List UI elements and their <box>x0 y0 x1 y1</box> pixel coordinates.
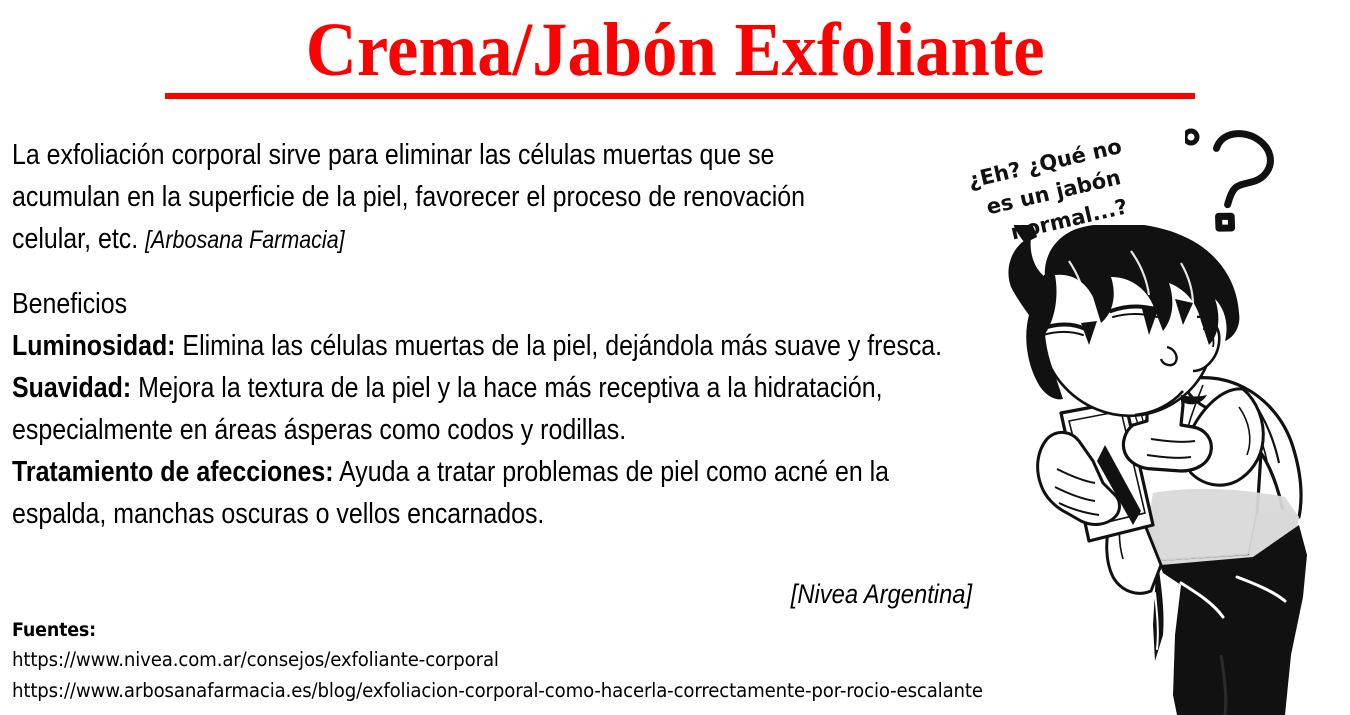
intro-line-3: celular, etc. [Arbosana Farmacia] <box>12 218 972 261</box>
benefit-label-tratamiento: Tratamiento de afecciones: <box>12 456 334 488</box>
benefits-attribution-row: [Nivea Argentina] <box>12 578 972 610</box>
benefit-item-tratamiento: Tratamiento de afecciones: Ayuda a trata… <box>12 451 972 535</box>
intro-line-3-text: celular, etc. <box>12 223 138 255</box>
intro-line-2: acumulan en la superficie de la piel, fa… <box>12 176 972 218</box>
speech-bubble-text: ¿Eh? ¿Qué no es un jabón normal...? <box>960 128 1210 238</box>
benefit-text-suavidad: Mejora la textura de la piel y la hace m… <box>12 372 883 446</box>
intro-attribution: [Arbosana Farmacia] <box>145 226 345 254</box>
benefit-label-suavidad: Suavidad: <box>12 372 131 404</box>
intro-line-1: La exfoliación corporal sirve para elimi… <box>12 134 972 176</box>
question-mark-icon <box>1185 128 1300 238</box>
benefit-label-luminosidad: Luminosidad: <box>12 330 175 362</box>
page-title-container: Crema/Jabón Exfoliante <box>0 8 1350 92</box>
benefit-item-suavidad: Suavidad: Mejora la textura de la piel y… <box>12 367 972 451</box>
page-title: Crema/Jabón Exfoliante <box>306 8 1045 92</box>
speech-line-1: ¿Eh? ¿Qué no <box>966 134 1124 193</box>
benefits-attribution: [Nivea Argentina] <box>791 578 972 610</box>
body-text-block: La exfoliación corporal sirve para elimi… <box>12 134 972 535</box>
title-underline-rule <box>165 93 1195 99</box>
question-mark-dot-icon <box>1185 131 1197 143</box>
slide-canvas: Crema/Jabón Exfoliante La exfoliación co… <box>0 0 1350 715</box>
benefits-heading: Beneficios <box>12 283 972 325</box>
manga-boy-illustration <box>985 225 1350 715</box>
benefit-item-luminosidad: Luminosidad: Elimina las células muertas… <box>12 325 972 367</box>
manga-boy-svg <box>985 225 1350 715</box>
paragraph-spacer <box>12 261 972 283</box>
speech-line-2: es un jabón <box>984 165 1123 219</box>
benefit-text-luminosidad: Elimina las células muertas de la piel, … <box>182 330 942 362</box>
